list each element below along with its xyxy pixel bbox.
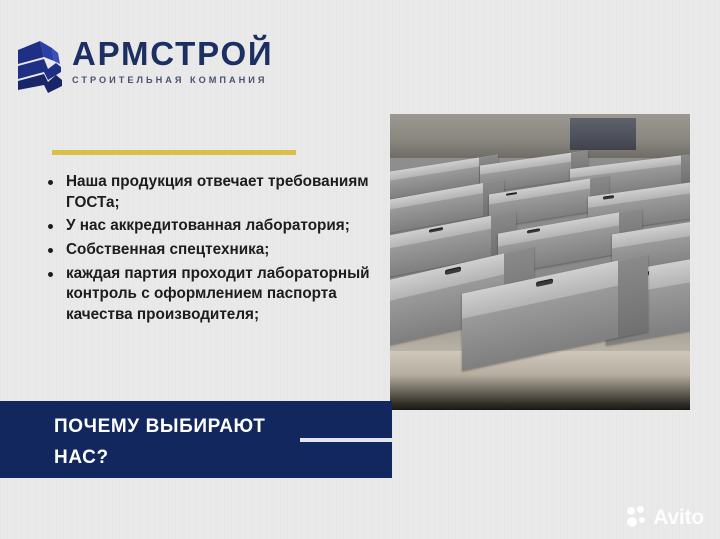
list-item: Собственная спецтехника;	[44, 240, 374, 261]
benefits-list: Наша продукция отвечает требованиям ГОСТ…	[44, 172, 374, 328]
promo-banner-canvas: АРМСТРОЙ СТРОИТЕЛЬНАЯ КОМПАНИЯ Наша прод…	[0, 0, 720, 539]
list-item: каждая партия проходит лабораторный конт…	[44, 264, 374, 326]
company-logo: АРМСТРОЙ СТРОИТЕЛЬНАЯ КОМПАНИЯ	[14, 33, 273, 94]
accent-rule	[52, 150, 296, 155]
avito-wordmark: Avito	[653, 507, 704, 528]
logo-subtitle: СТРОИТЕЛЬНАЯ КОМПАНИЯ	[72, 76, 273, 85]
list-item: Наша продукция отвечает требованиям ГОСТ…	[44, 172, 374, 213]
avito-dots-icon	[627, 506, 649, 528]
product-photo	[390, 114, 690, 410]
banner-rule	[300, 438, 392, 442]
banner-title: ПОЧЕМУ ВЫБИРАЮТ НАС?	[54, 412, 324, 474]
why-choose-us-banner: ПОЧЕМУ ВЫБИРАЮТ НАС?	[0, 401, 392, 478]
photo-ground	[390, 351, 690, 410]
photo-scene	[390, 114, 690, 410]
armstroy-building-logo-icon	[14, 36, 64, 94]
logo-wordmark: АРМСТРОЙ СТРОИТЕЛЬНАЯ КОМПАНИЯ	[72, 33, 273, 85]
list-item: У нас аккредитованная лаборатория;	[44, 216, 374, 237]
avito-watermark: Avito	[627, 506, 704, 528]
photo-background-wall	[390, 114, 690, 158]
logo-title: АРМСТРОЙ	[72, 37, 273, 70]
